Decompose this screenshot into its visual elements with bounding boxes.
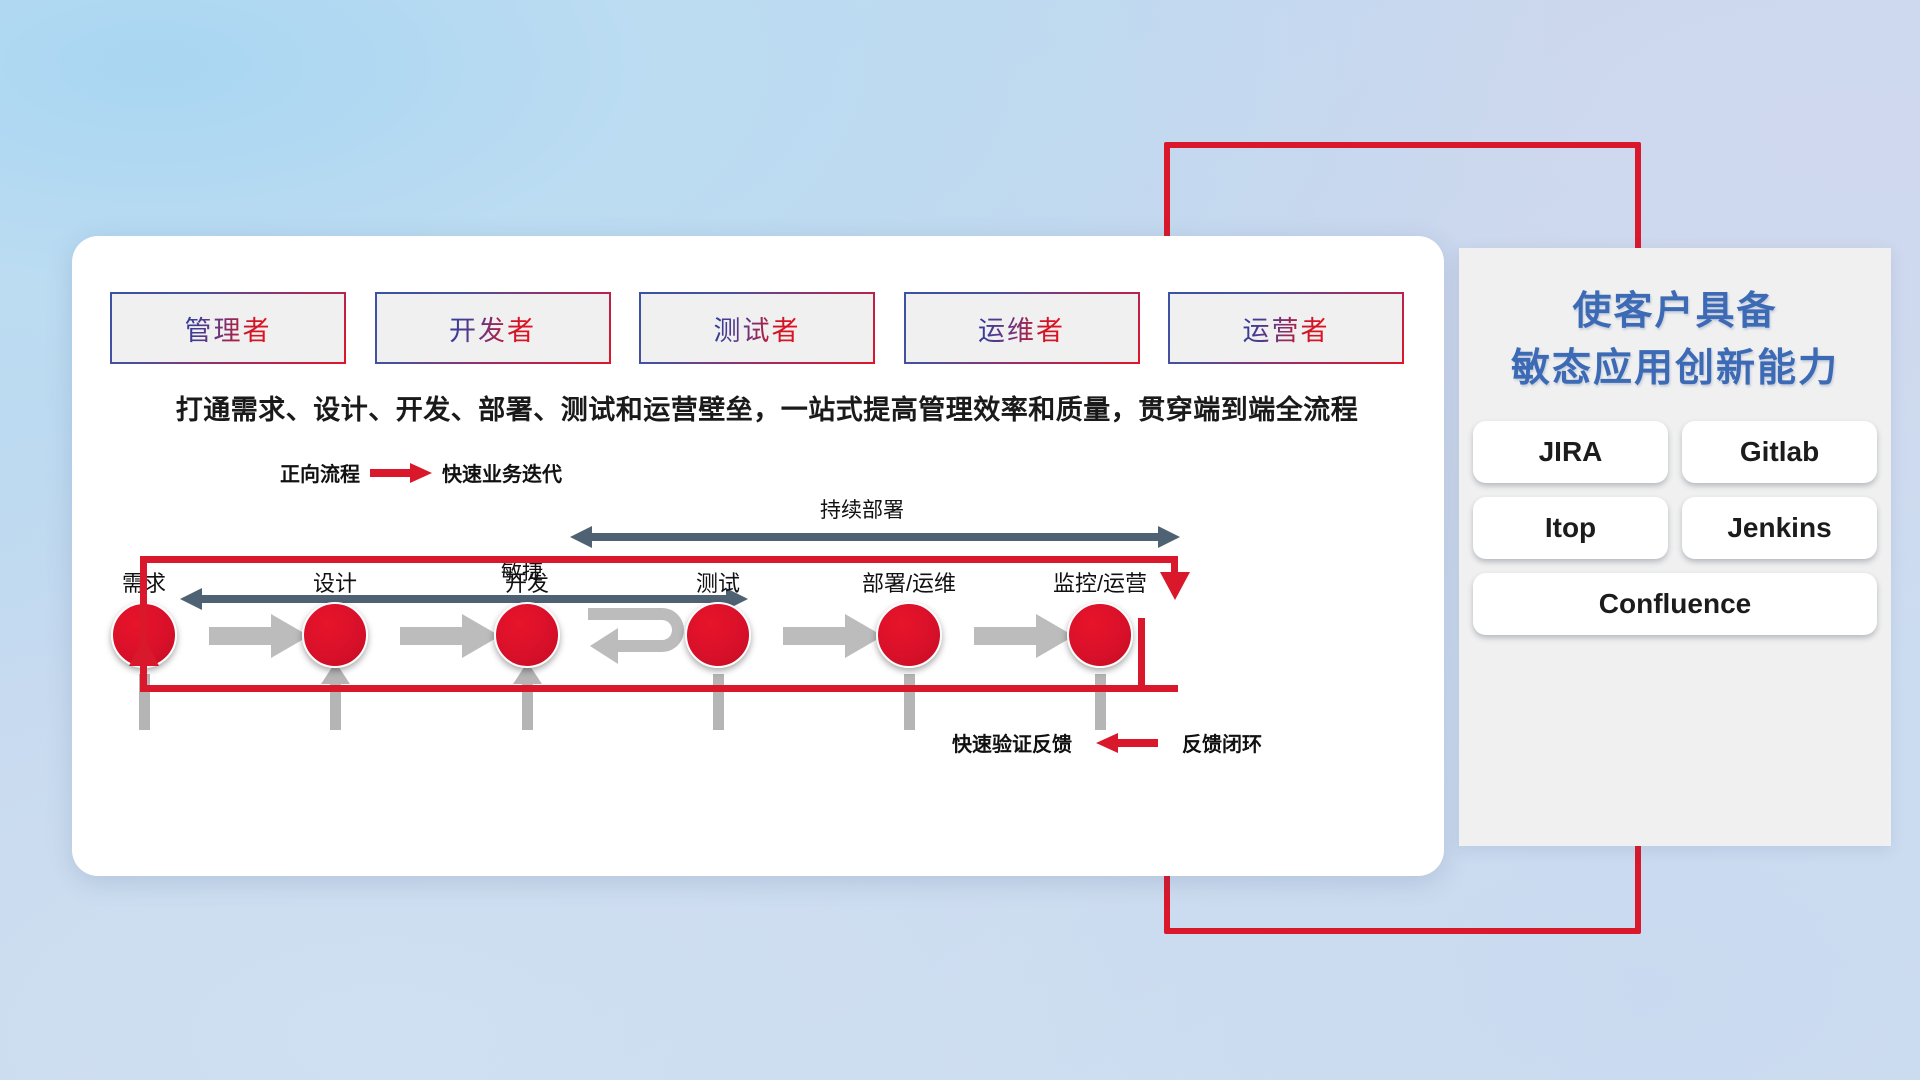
stage-design[interactable]: 设计 <box>265 566 405 668</box>
role-box-ops[interactable]: 运维者 <box>906 294 1138 362</box>
feedback-label-right: 反馈闭环 <box>1182 728 1262 757</box>
tool-itop[interactable]: Itop <box>1473 497 1668 559</box>
pipeline-loop-left <box>140 556 147 692</box>
continuous-deployment-arrow-icon <box>570 524 1180 550</box>
stage-dot <box>685 602 751 668</box>
stage-label: 设计 <box>265 566 405 598</box>
main-diagram-card: 管理者 开发者 测试者 运维者 运营者 打通需求、设计、开发、部署、测试和运营壁… <box>72 236 1444 876</box>
tool-jira[interactable]: JIRA <box>1473 421 1668 483</box>
tool-jenkins[interactable]: Jenkins <box>1682 497 1877 559</box>
stage-label: 监控/运营 <box>1030 566 1170 598</box>
pipeline-loop-bottom <box>140 685 1178 692</box>
stage-testing[interactable]: 测试 <box>648 566 788 668</box>
stage-dot <box>302 602 368 668</box>
role-box-operations[interactable]: 运营者 <box>1170 294 1402 362</box>
forward-flow-label-left: 正向流程 <box>280 458 360 487</box>
span-label-continuous-deployment: 持续部署 <box>722 494 1002 524</box>
stage-label: 测试 <box>648 566 788 598</box>
tool-confluence[interactable]: Confluence <box>1473 573 1877 635</box>
stage-monitor-operations[interactable]: 监控/运营 <box>1030 566 1170 668</box>
tool-list: JIRA Gitlab Itop Jenkins Confluence <box>1473 421 1877 635</box>
pipeline-stages: 需求 设计 开发 测试 <box>72 566 1444 726</box>
tool-gitlab[interactable]: Gitlab <box>1682 421 1877 483</box>
role-label: 运营者 <box>1243 309 1330 348</box>
forward-flow-legend: 正向流程 快速业务迭代 <box>280 458 562 487</box>
loop-arrowhead-up-icon <box>128 636 160 668</box>
forward-flow-label-right: 快速业务迭代 <box>442 458 562 487</box>
side-panel: 使客户具备 敏态应用创新能力 JIRA Gitlab Itop Jenkins … <box>1459 248 1891 846</box>
role-label: 测试者 <box>714 309 801 348</box>
role-box-manager[interactable]: 管理者 <box>112 294 344 362</box>
role-label: 开发者 <box>449 309 536 348</box>
stage-deploy-ops[interactable]: 部署/运维 <box>839 566 979 668</box>
stage-label: 部署/运维 <box>839 566 979 598</box>
role-box-tester[interactable]: 测试者 <box>641 294 873 362</box>
role-box-developer[interactable]: 开发者 <box>377 294 609 362</box>
pipeline-loop-top <box>140 556 1178 563</box>
description-text: 打通需求、设计、开发、部署、测试和运营壁垒，一站式提高管理效率和质量，贯穿端到端… <box>122 388 1412 427</box>
stage-stem-5 <box>904 674 915 730</box>
loop-arrowhead-down-icon <box>1158 572 1192 602</box>
stage-dot <box>876 602 942 668</box>
stage-label: 开发 <box>457 566 597 598</box>
feedback-label-left: 快速验证反馈 <box>952 728 1072 757</box>
arrow-right-red-icon <box>370 463 432 483</box>
arrow-left-red-icon <box>1096 733 1158 753</box>
side-panel-title-line2: 敏态应用创新能力 <box>1459 341 1891 398</box>
stage-dot <box>1067 602 1133 668</box>
role-label: 管理者 <box>185 309 272 348</box>
stage-stem-6 <box>1095 674 1106 730</box>
stage-stem-4 <box>713 674 724 730</box>
side-panel-title-line1: 使客户具备 <box>1459 284 1891 341</box>
role-label: 运维者 <box>978 309 1065 348</box>
stage-dot <box>494 602 560 668</box>
feedback-legend: 快速验证反馈 反馈闭环 <box>952 728 1262 757</box>
pipeline-loop-down-monitor <box>1138 618 1145 692</box>
stage-development[interactable]: 开发 <box>457 566 597 668</box>
side-panel-title: 使客户具备 敏态应用创新能力 <box>1459 284 1891 397</box>
role-box-row: 管理者 开发者 测试者 运维者 运营者 <box>112 294 1402 362</box>
